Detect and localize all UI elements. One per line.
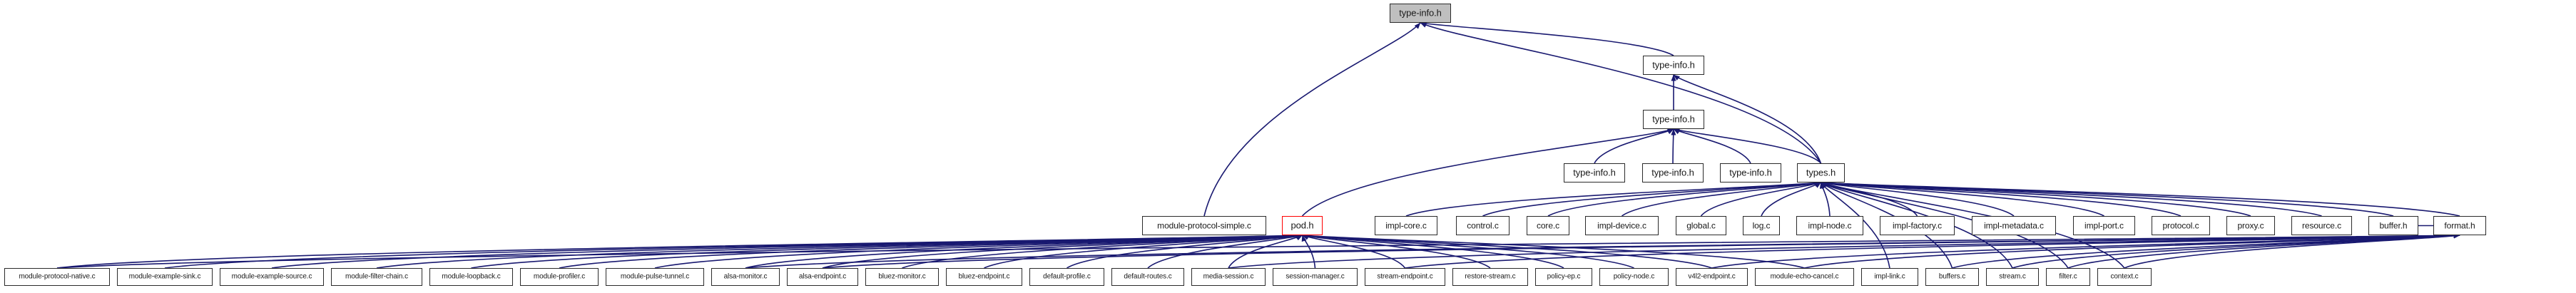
graph-node-label: type-info.h [1573,168,1616,178]
graph-node-label: module-filter-chain.c [345,273,408,280]
graph-edge [823,235,2460,268]
graph-edge [472,235,1303,268]
graph-node-type-info-h[interactable]: type-info.h [1390,4,1451,23]
graph-node-impl-metadata-c[interactable]: impl-metadata.c [1972,216,2056,235]
graph-node-session-manager-c[interactable]: session-manager.c [1273,268,1358,286]
graph-edge [1674,129,1821,163]
graph-edge [1228,235,1303,268]
graph-node-pod-h[interactable]: pod.h [1282,216,1323,235]
graph-node-label: proxy.c [2237,221,2264,230]
graph-node-core-c[interactable]: core.c [1527,216,1569,235]
graph-edge [1405,235,2460,268]
graph-node-label: default-routes.c [1124,273,1171,280]
graph-edge [823,235,1303,268]
graph-node-module-protocol-simple-c[interactable]: module-protocol-simple.c [1142,216,1266,235]
graph-node-impl-core-c[interactable]: impl-core.c [1375,216,1437,235]
graph-node-resource-c[interactable]: resource.c [2291,216,2352,235]
graph-edge [1821,183,2322,216]
graph-node-label: filter.c [2059,273,2077,280]
graph-edge [1420,23,1674,56]
graph-edge [1712,235,2460,268]
graph-edge [1548,183,1821,216]
graph-edge [1406,183,1821,216]
graph-edge [1303,235,1564,268]
graph-edge [655,235,1303,268]
graph-node-bluez-endpoint-c[interactable]: bluez-endpoint.c [946,268,1022,286]
graph-node-impl-device-c[interactable]: impl-device.c [1585,216,1659,235]
graph-node-label: impl-link.c [1874,273,1905,280]
graph-edge [1821,183,1918,216]
graph-node-restore-stream-c[interactable]: restore-stream.c [1452,268,1528,286]
graph-node-label: module-profiler.c [534,273,585,280]
graph-edge [902,235,1303,268]
graph-node-label: session-manager.c [1286,273,1344,280]
graph-edge [1148,235,1303,268]
graph-node-label: types.h [1806,168,1836,178]
graph-node-label: type-info.h [1399,9,1442,18]
graph-node-label: alsa-monitor.c [724,273,768,280]
graph-node-label: bluez-endpoint.c [959,273,1010,280]
graph-edge [2012,235,2460,268]
graph-node-label: type-info.h [1652,115,1695,124]
graph-edge [559,235,1303,268]
graph-node-stream-endpoint-c[interactable]: stream-endpoint.c [1365,268,1445,286]
graph-node-label: module-loopback.c [442,273,500,280]
graph-edge [1228,235,2460,268]
graph-node-impl-link-c[interactable]: impl-link.c [1861,268,1918,286]
graph-edge [1483,183,1821,216]
graph-edge [1303,235,1634,268]
graph-node-module-example-sink-c[interactable]: module-example-sink.c [117,268,213,286]
graph-node-label: global.c [1686,221,1716,230]
graph-edge [272,235,1303,268]
graph-edge [377,235,1303,268]
graph-node-buffer-h[interactable]: buffer.h [2368,216,2418,235]
graph-node-log-c[interactable]: log.c [1743,216,1780,235]
graph-node-format-h[interactable]: format.h [2433,216,2486,235]
graph-node-label: resource.c [2302,221,2341,230]
graph-node-control-c[interactable]: control.c [1456,216,1510,235]
graph-node-label: impl-port.c [2084,221,2124,230]
graph-node-module-protocol-native-c[interactable]: module-protocol-native.c [4,268,110,286]
graph-edge [1953,235,2460,268]
graph-edge [2068,235,2460,268]
graph-node-label: impl-core.c [1385,221,1427,230]
graph-node-alsa-endpoint-c[interactable]: alsa-endpoint.c [787,268,858,286]
graph-edge [745,235,2460,268]
graph-edge [1303,235,1805,268]
graph-node-impl-factory-c[interactable]: impl-factory.c [1880,216,1955,235]
graph-edge [1701,183,1821,216]
graph-edge [1622,183,1821,216]
graph-node-context-c[interactable]: context.c [2097,268,2152,286]
graph-node-label: core.c [1537,221,1559,230]
graph-node-policy-node-c[interactable]: policy-node.c [1599,268,1669,286]
graph-node-bluez-monitor-c[interactable]: bluez-monitor.c [865,268,939,286]
graph-node-proxy-c[interactable]: proxy.c [2226,216,2275,235]
graph-edge [1761,183,1821,216]
graph-node-label: impl-node.c [1808,221,1852,230]
graph-edge [57,235,1303,268]
graph-node-label: module-echo-cancel.c [1771,273,1839,280]
graph-node-type-info-h[interactable]: type-info.h [1642,163,1704,183]
graph-edge [1303,235,1491,268]
graph-node-label: control.c [1467,221,1498,230]
graph-node-impl-node-c[interactable]: impl-node.c [1796,216,1863,235]
graph-node-label: media-session.c [1203,273,1254,280]
graph-edge [1674,129,1751,163]
graph-node-policy-ep-c[interactable]: policy-ep.c [1535,268,1592,286]
graph-node-filter-c[interactable]: filter.c [2046,268,2090,286]
graph-node-label: type-info.h [1729,168,1772,178]
graph-node-label: module-pulse-tunnel.c [621,273,689,280]
graph-node-stream-c[interactable]: stream.c [1986,268,2039,286]
graph-edge [1204,23,1420,216]
graph-edge [1303,235,1315,268]
graph-node-label: module-example-sink.c [129,273,201,280]
graph-node-module-loopback-c[interactable]: module-loopback.c [429,268,513,286]
graph-node-module-profiler-c[interactable]: module-profiler.c [520,268,599,286]
graph-node-buffers-c[interactable]: buffers.c [1925,268,1979,286]
graph-node-type-info-h[interactable]: type-info.h [1643,56,1704,75]
graph-node-label: format.h [2444,221,2475,230]
graph-node-module-pulse-tunnel-c[interactable]: module-pulse-tunnel.c [606,268,704,286]
graph-edge [1821,183,2182,216]
graph-edge [1594,129,1674,163]
graph-node-label: log.c [1753,221,1771,230]
graph-node-label: alsa-endpoint.c [799,273,846,280]
graph-node-label: context.c [2110,273,2138,280]
graph-node-label: module-example-source.c [232,273,312,280]
graph-node-label: pod.h [1290,221,1313,230]
graph-edge [165,235,1303,268]
graph-node-type-info-h[interactable]: type-info.h [1564,163,1625,183]
graph-node-label: policy-ep.c [1547,273,1581,280]
graph-node-label: impl-metadata.c [1984,221,2044,230]
graph-node-media-session-c[interactable]: media-session.c [1191,268,1266,286]
graph-node-label: stream.c [1999,273,2026,280]
graph-node-label: protocol.c [2162,221,2199,230]
graph-node-type-info-h[interactable]: type-info.h [1720,163,1781,183]
graph-node-label: restore-stream.c [1465,273,1515,280]
graph-edge-layer [0,0,2576,293]
graph-node-label: module-protocol-simple.c [1157,221,1251,230]
graph-node-label: type-info.h [1652,61,1695,70]
include-dependency-graph: type-info.htype-info.htype-info.htype-in… [0,0,2576,293]
graph-node-default-routes-c[interactable]: default-routes.c [1111,268,1184,286]
graph-edge [984,235,1303,268]
graph-edge [1673,129,1674,163]
graph-edge [1821,183,2015,216]
graph-node-protocol-c[interactable]: protocol.c [2152,216,2210,235]
graph-node-type-info-h[interactable]: type-info.h [1643,110,1704,129]
graph-edge [1821,183,2104,216]
graph-node-global-c[interactable]: global.c [1676,216,1726,235]
graph-node-v4l2-endpoint-c[interactable]: v4l2-endpoint.c [1676,268,1748,286]
graph-edge [2124,235,2460,268]
graph-edge [745,235,1303,268]
graph-edge [1303,235,1712,268]
graph-node-label: impl-factory.c [1893,221,1942,230]
graph-node-alsa-monitor-c[interactable]: alsa-monitor.c [711,268,780,286]
graph-node-label: bluez-monitor.c [878,273,925,280]
graph-edge [1805,235,2460,268]
graph-node-module-echo-cancel-c[interactable]: module-echo-cancel.c [1755,268,1854,286]
graph-node-label: type-info.h [1651,168,1694,178]
graph-node-label: v4l2-endpoint.c [1688,273,1735,280]
graph-edge [1067,235,1303,268]
graph-node-label: stream-endpoint.c [1377,273,1432,280]
graph-node-label: policy-node.c [1614,273,1655,280]
graph-node-label: buffer.h [2379,221,2407,230]
graph-node-impl-port-c[interactable]: impl-port.c [2073,216,2135,235]
graph-node-module-example-source-c[interactable]: module-example-source.c [220,268,324,286]
graph-edge [1821,183,2251,216]
graph-edge [1303,235,1405,268]
graph-node-label: impl-device.c [1597,221,1646,230]
graph-node-label: module-protocol-native.c [19,273,95,280]
graph-node-default-profile-c[interactable]: default-profile.c [1029,268,1104,286]
graph-edge [1821,183,2460,216]
graph-node-types-h[interactable]: types.h [1797,163,1845,183]
graph-node-label: default-profile.c [1043,273,1091,280]
graph-edge [1821,183,2394,216]
graph-node-label: buffers.c [1939,273,1965,280]
graph-edge [1420,23,1821,163]
graph-edge [1821,183,1831,216]
graph-edge [57,235,2460,268]
graph-node-module-filter-chain-c[interactable]: module-filter-chain.c [331,268,422,286]
